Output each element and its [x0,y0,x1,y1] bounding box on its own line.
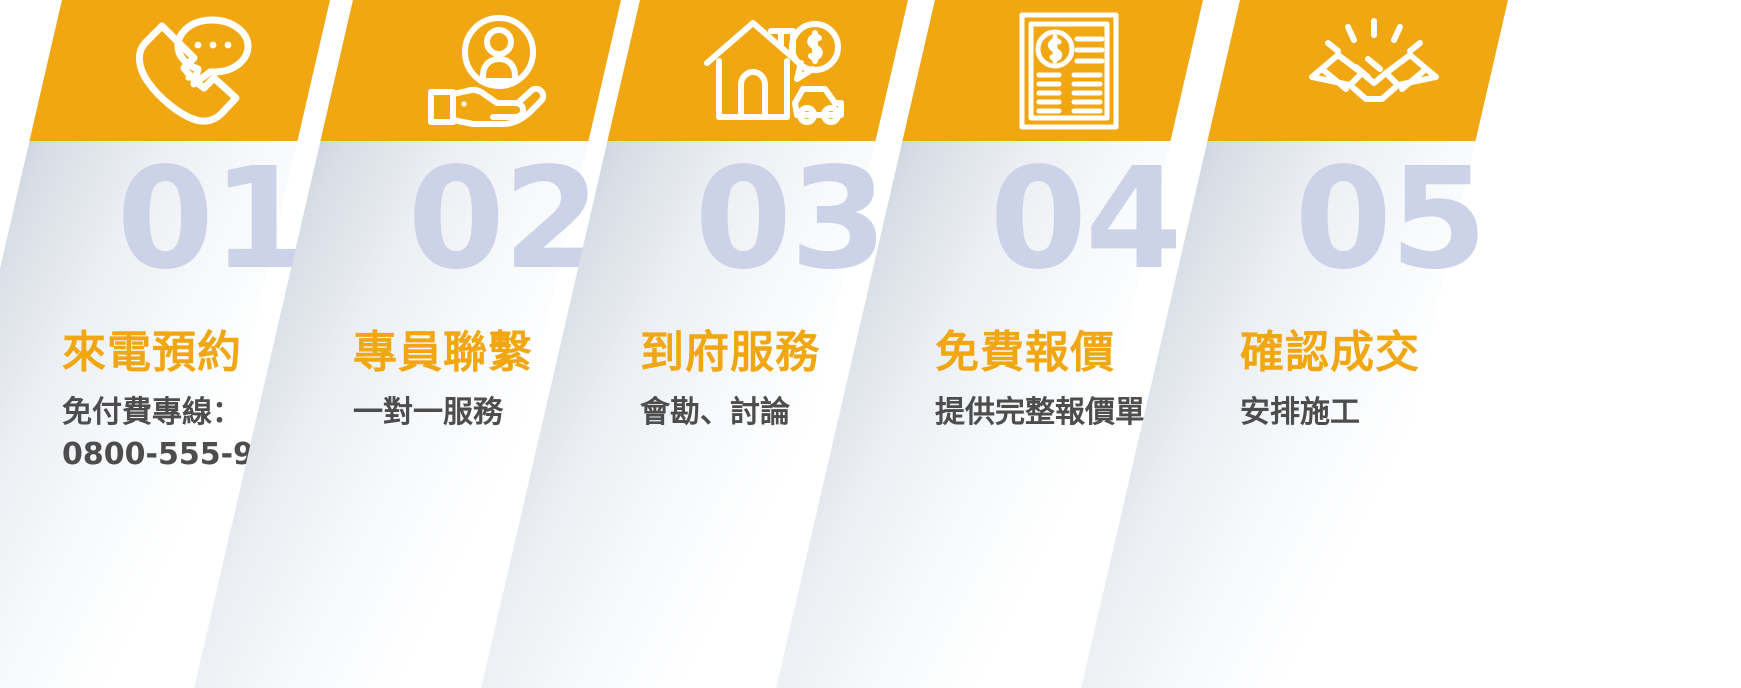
process-infographic: 01 來電預約 免付費專線： 0800-555-968 02 專員聯繫 一對一服… [0,0,1741,688]
process-step-05: 05 確認成交 安排施工 [1240,0,1540,688]
step-title: 確認成交 [1240,327,1540,379]
step-panel-header [607,0,908,141]
step-number: 05 [1240,150,1540,290]
step-subtitle: 安排施工 [1240,392,1570,434]
step-panel-header [320,0,621,141]
step-panel-header [1207,0,1508,141]
step-panel-header [29,0,330,141]
step-panel-header [902,0,1203,141]
